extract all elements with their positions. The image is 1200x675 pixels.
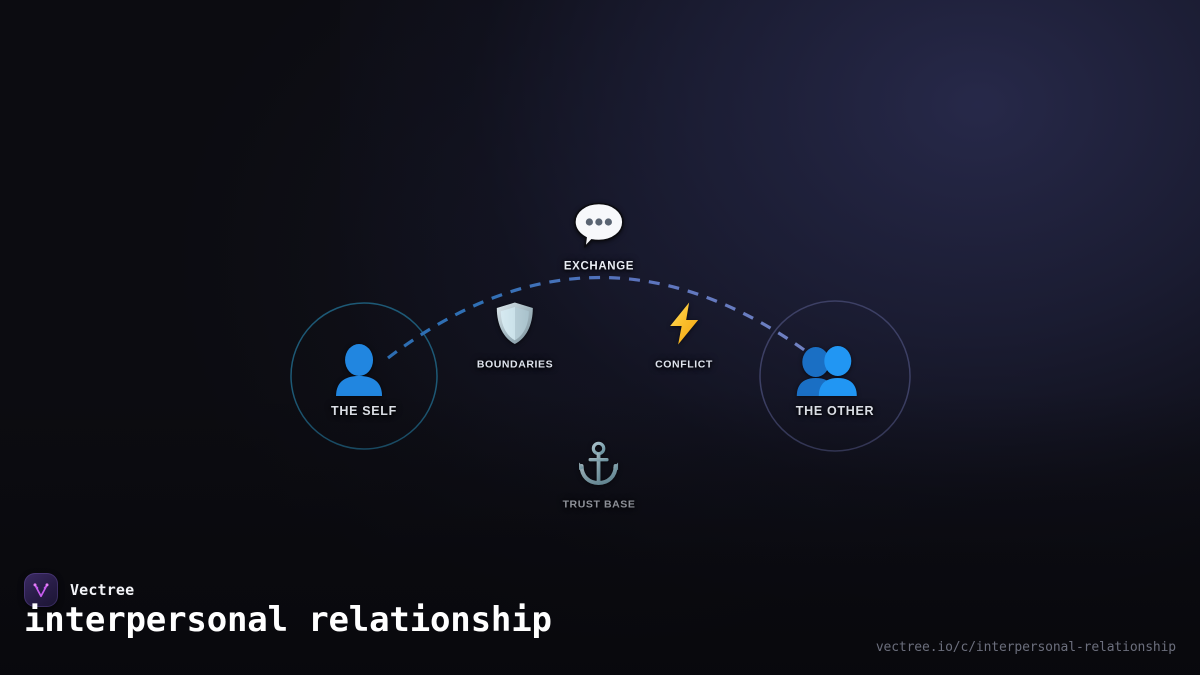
page-url: vectree.io/c/interpersonal-relationship xyxy=(876,640,1176,655)
page-title: interpersonal relationship xyxy=(24,602,552,639)
screenshot-canvas: THE SELF THE OTHER EXCHANGE xyxy=(0,0,1200,675)
brand-name: Vectree xyxy=(70,581,134,599)
footer: Vectree interpersonal relationship vectr… xyxy=(0,557,1200,675)
